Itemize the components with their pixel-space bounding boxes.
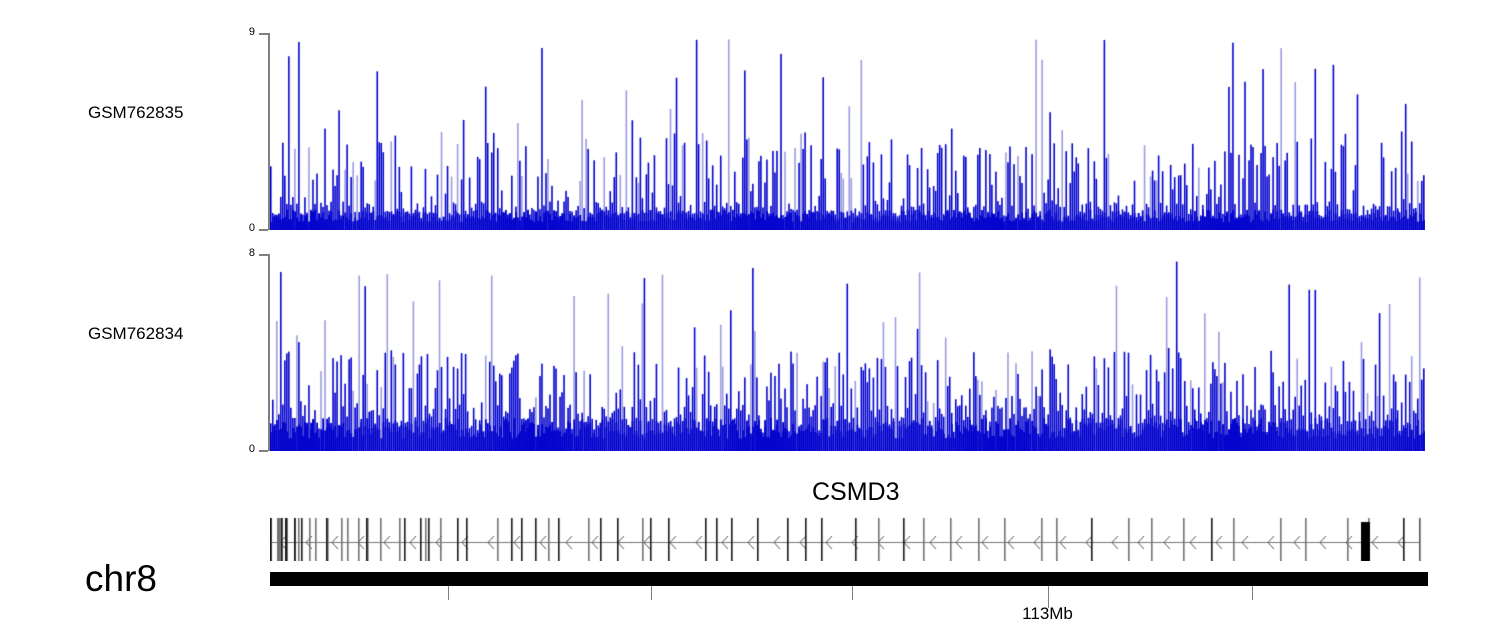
- chromosome-bar: [270, 572, 1428, 586]
- coordinate-label: 113Mb: [988, 604, 1108, 624]
- coordinate-tick: [651, 586, 652, 600]
- coordinate-tick: [1252, 586, 1253, 600]
- coordinate-tick: [448, 586, 449, 600]
- chromosome-ideogram-track: chr8 113Mb: [0, 0, 1500, 640]
- coordinate-tick: [852, 586, 853, 600]
- chromosome-label: chr8: [85, 558, 157, 600]
